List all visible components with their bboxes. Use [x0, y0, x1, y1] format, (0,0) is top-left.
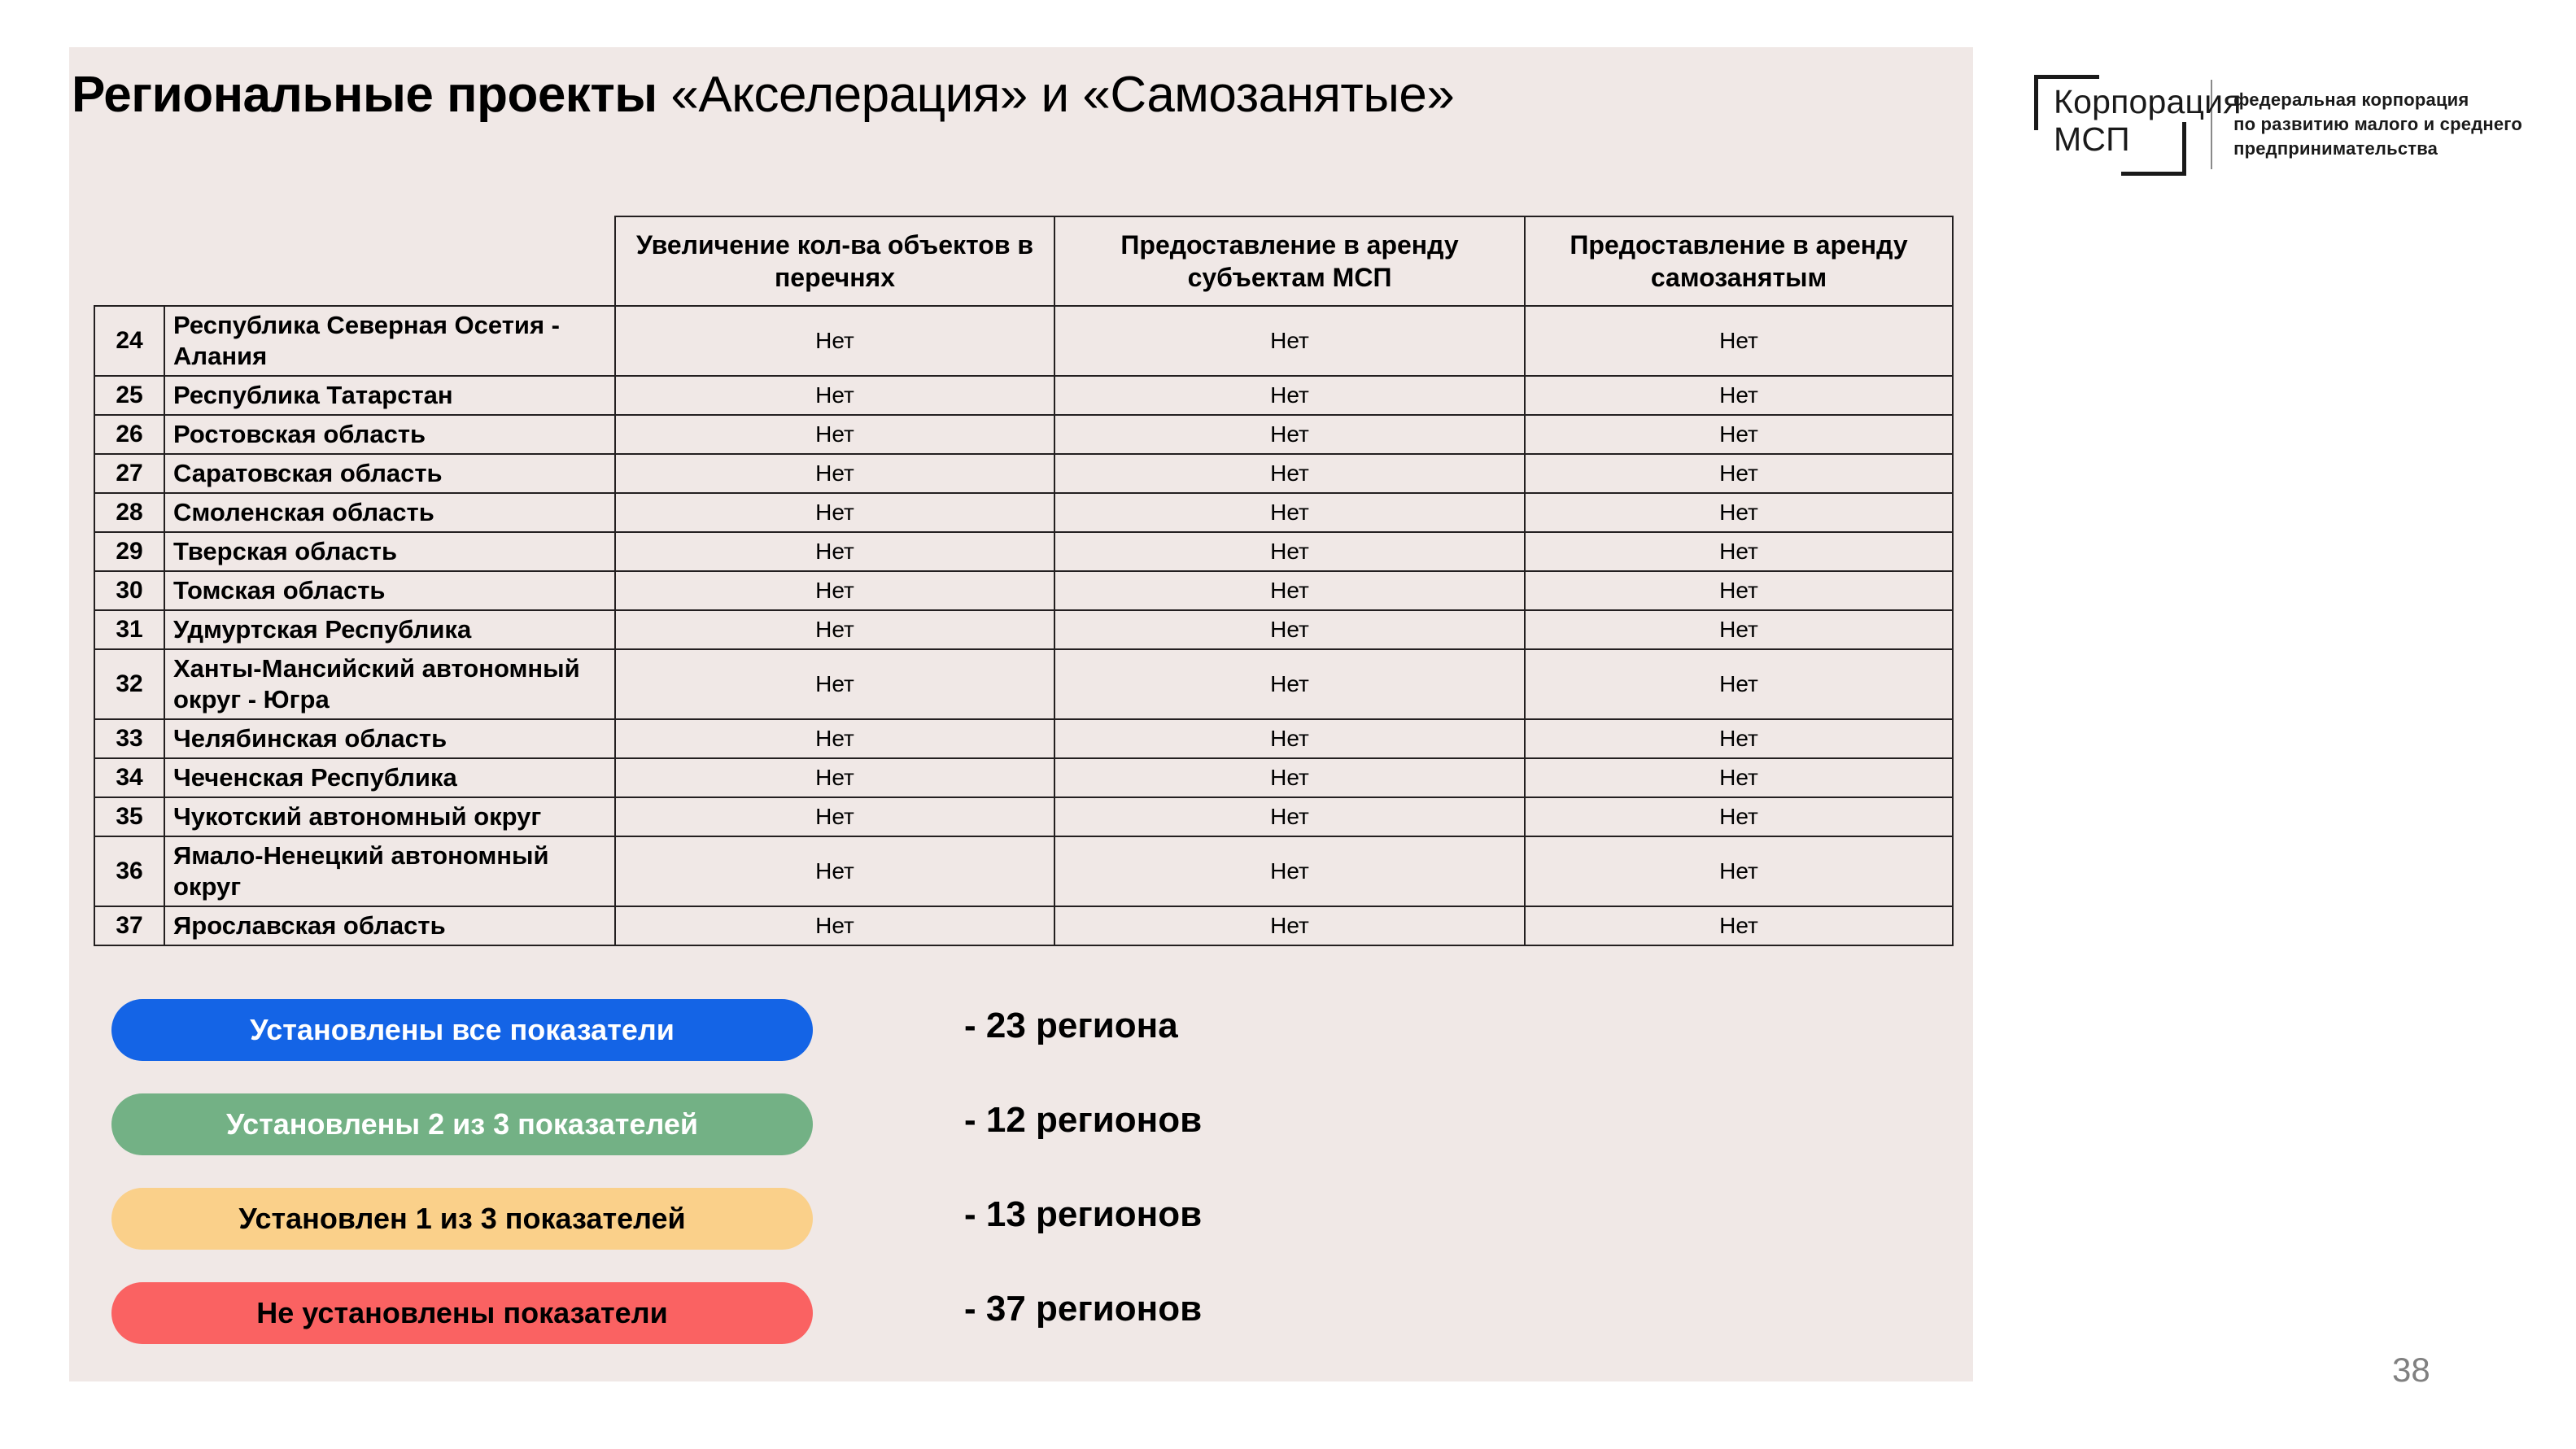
- row-value-3: Нет: [1525, 376, 1953, 415]
- row-value-3: Нет: [1525, 719, 1953, 758]
- row-value-1: Нет: [615, 836, 1054, 906]
- row-value-3: Нет: [1525, 649, 1953, 719]
- row-value-3: Нет: [1525, 571, 1953, 610]
- row-index: 27: [94, 454, 164, 493]
- legend-row: Не установлены показатели- 37 регионов: [111, 1277, 1413, 1372]
- row-value-1: Нет: [615, 797, 1054, 836]
- row-region: Удмуртская Республика: [164, 610, 615, 649]
- legend-count: - 12 регионов: [964, 1100, 1202, 1141]
- header-region: [164, 216, 615, 306]
- row-value-1: Нет: [615, 610, 1054, 649]
- row-index: 30: [94, 571, 164, 610]
- logo-line-2: МСП: [2054, 120, 2242, 158]
- row-value-1: Нет: [615, 415, 1054, 454]
- table-row: 37Ярославская областьНетНетНет: [94, 906, 1953, 945]
- page-title-bold: Региональные проекты: [72, 67, 657, 123]
- row-value-2: Нет: [1054, 906, 1525, 945]
- row-value-3: Нет: [1525, 306, 1953, 376]
- row-value-1: Нет: [615, 758, 1054, 797]
- regions-table-wrapper: Увеличение кол-ва объектов в перечнях Пр…: [94, 216, 1952, 946]
- row-value-3: Нет: [1525, 758, 1953, 797]
- row-region: Ханты-Мансийский автономный округ - Югра: [164, 649, 615, 719]
- row-region: Челябинская область: [164, 719, 615, 758]
- row-value-2: Нет: [1054, 454, 1525, 493]
- row-region: Тверская область: [164, 532, 615, 571]
- slide-root: Региональные проекты «Акселерация» и «Са…: [0, 0, 2576, 1449]
- row-value-2: Нет: [1054, 758, 1525, 797]
- legend-row: Установлены все показатели- 23 региона: [111, 994, 1413, 1089]
- logo-wordmark: Корпорация МСП: [2054, 83, 2242, 158]
- row-value-2: Нет: [1054, 836, 1525, 906]
- table-row: 35Чукотский автономный округНетНетНет: [94, 797, 1953, 836]
- row-value-2: Нет: [1054, 532, 1525, 571]
- row-value-1: Нет: [615, 532, 1054, 571]
- row-value-1: Нет: [615, 493, 1054, 532]
- row-value-3: Нет: [1525, 797, 1953, 836]
- row-value-2: Нет: [1054, 493, 1525, 532]
- header-col1: Увеличение кол-ва объектов в перечнях: [615, 216, 1054, 306]
- table-row: 30Томская областьНетНетНет: [94, 571, 1953, 610]
- legend-pill: Не установлены показатели: [111, 1282, 813, 1344]
- row-region: Республика Северная Осетия - Алания: [164, 306, 615, 376]
- table-body: 24Республика Северная Осетия - АланияНет…: [94, 306, 1953, 945]
- row-value-2: Нет: [1054, 376, 1525, 415]
- table-row: 25Республика ТатарстанНетНетНет: [94, 376, 1953, 415]
- legend-pill: Установлены все показатели: [111, 999, 813, 1061]
- row-value-3: Нет: [1525, 532, 1953, 571]
- table-row: 36Ямало-Ненецкий автономный округНетНетН…: [94, 836, 1953, 906]
- row-index: 37: [94, 906, 164, 945]
- row-value-1: Нет: [615, 906, 1054, 945]
- row-region: Ярославская область: [164, 906, 615, 945]
- row-value-3: Нет: [1525, 415, 1953, 454]
- row-region: Чукотский автономный округ: [164, 797, 615, 836]
- row-region: Республика Татарстан: [164, 376, 615, 415]
- regions-table: Увеличение кол-ва объектов в перечнях Пр…: [94, 216, 1954, 946]
- row-index: 35: [94, 797, 164, 836]
- row-value-1: Нет: [615, 376, 1054, 415]
- header-index: [94, 216, 164, 306]
- logo-tagline: федеральная корпорация по развитию малог…: [2233, 88, 2522, 161]
- row-value-3: Нет: [1525, 493, 1953, 532]
- row-value-1: Нет: [615, 649, 1054, 719]
- page-title-regular: «Акселерация» и «Самозанятые»: [657, 67, 1455, 123]
- row-value-3: Нет: [1525, 906, 1953, 945]
- header-col3: Предоставление в аренду самозанятым: [1525, 216, 1953, 306]
- row-region: Ростовская область: [164, 415, 615, 454]
- legend-row: Установлены 2 из 3 показателей- 12 регио…: [111, 1089, 1413, 1183]
- row-index: 26: [94, 415, 164, 454]
- row-region: Ямало-Ненецкий автономный округ: [164, 836, 615, 906]
- table-row: 31Удмуртская РеспубликаНетНетНет: [94, 610, 1953, 649]
- row-index: 29: [94, 532, 164, 571]
- row-value-2: Нет: [1054, 306, 1525, 376]
- table-row: 34Чеченская РеспубликаНетНетНет: [94, 758, 1953, 797]
- table-row: 24Республика Северная Осетия - АланияНет…: [94, 306, 1953, 376]
- row-value-2: Нет: [1054, 649, 1525, 719]
- row-index: 32: [94, 649, 164, 719]
- legend-pill: Установлены 2 из 3 показателей: [111, 1093, 813, 1155]
- table-header-row: Увеличение кол-ва объектов в перечнях Пр…: [94, 216, 1953, 306]
- row-index: 25: [94, 376, 164, 415]
- table-row: 26Ростовская областьНетНетНет: [94, 415, 1953, 454]
- row-index: 28: [94, 493, 164, 532]
- row-index: 33: [94, 719, 164, 758]
- legend-row: Установлен 1 из 3 показателей- 13 регион…: [111, 1183, 1413, 1277]
- row-value-2: Нет: [1054, 571, 1525, 610]
- row-value-3: Нет: [1525, 454, 1953, 493]
- logo-tagline-line-1: федеральная корпорация: [2233, 88, 2522, 112]
- row-value-2: Нет: [1054, 610, 1525, 649]
- page-number: 38: [2392, 1351, 2430, 1390]
- legend-count: - 23 региона: [964, 1006, 1178, 1046]
- row-index: 34: [94, 758, 164, 797]
- row-value-1: Нет: [615, 719, 1054, 758]
- table-row: 28Смоленская областьНетНетНет: [94, 493, 1953, 532]
- legend-count: - 37 регионов: [964, 1289, 1202, 1329]
- row-region: Томская область: [164, 571, 615, 610]
- legend: Установлены все показатели- 23 регионаУс…: [111, 994, 1413, 1372]
- row-region: Чеченская Республика: [164, 758, 615, 797]
- row-index: 24: [94, 306, 164, 376]
- row-value-1: Нет: [615, 454, 1054, 493]
- table-head: Увеличение кол-ва объектов в перечнях Пр…: [94, 216, 1953, 306]
- logo-tagline-line-2: по развитию малого и среднего: [2233, 112, 2522, 137]
- row-value-2: Нет: [1054, 415, 1525, 454]
- table-row: 27Саратовская областьНетНетНет: [94, 454, 1953, 493]
- logo-tagline-line-3: предпринимательства: [2233, 137, 2522, 161]
- row-value-1: Нет: [615, 306, 1054, 376]
- table-row: 32Ханты-Мансийский автономный округ - Юг…: [94, 649, 1953, 719]
- logo-line-1: Корпорация: [2054, 83, 2242, 120]
- table-row: 29Тверская областьНетНетНет: [94, 532, 1953, 571]
- row-index: 36: [94, 836, 164, 906]
- row-region: Смоленская область: [164, 493, 615, 532]
- legend-pill: Установлен 1 из 3 показателей: [111, 1188, 813, 1250]
- table-row: 33Челябинская областьНетНетНет: [94, 719, 1953, 758]
- row-value-2: Нет: [1054, 719, 1525, 758]
- logo-mark: Корпорация МСП: [2034, 73, 2206, 176]
- header-col2: Предоставление в аренду субъектам МСП: [1054, 216, 1525, 306]
- row-value-1: Нет: [615, 571, 1054, 610]
- page-title: Региональные проекты «Акселерация» и «Са…: [72, 65, 1454, 125]
- legend-count: - 13 регионов: [964, 1194, 1202, 1235]
- row-value-2: Нет: [1054, 797, 1525, 836]
- row-index: 31: [94, 610, 164, 649]
- row-value-3: Нет: [1525, 836, 1953, 906]
- row-value-3: Нет: [1525, 610, 1953, 649]
- corporation-logo: Корпорация МСП федеральная корпорация по…: [2034, 73, 2522, 179]
- row-region: Саратовская область: [164, 454, 615, 493]
